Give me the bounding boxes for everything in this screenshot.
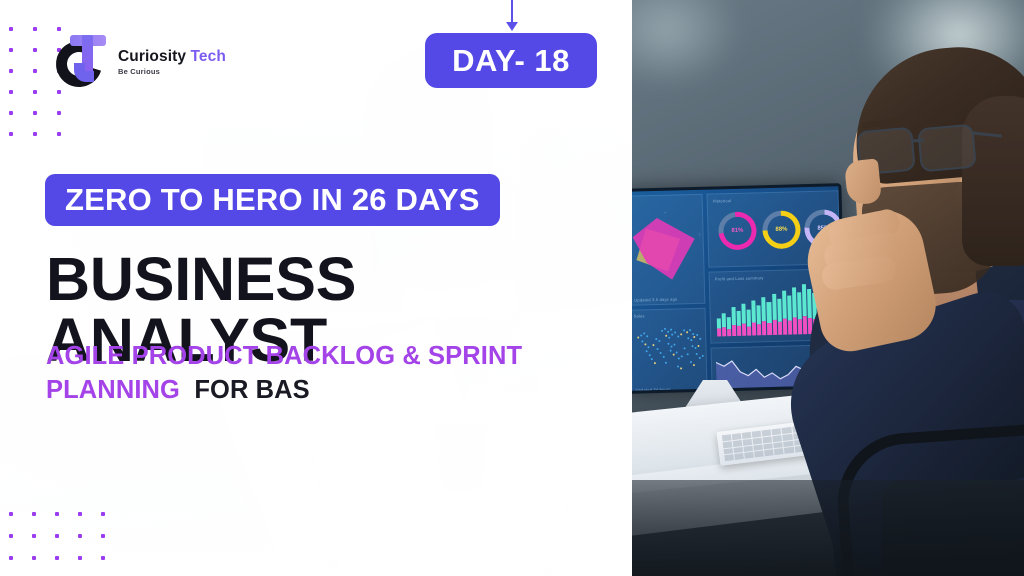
world-map-dot — [671, 334, 673, 336]
bar-segment-bottom — [752, 322, 756, 335]
world-map-dot — [643, 332, 645, 334]
bar-segment-bottom — [737, 326, 741, 336]
decor-dot — [55, 534, 59, 538]
bar-segment-top — [787, 296, 792, 321]
decor-dot — [78, 512, 82, 516]
world-map-dot — [667, 343, 669, 345]
world-map-dot — [673, 354, 675, 356]
map-panel-label: Sales — [634, 313, 645, 318]
decor-dot — [55, 556, 59, 560]
world-map-dot — [680, 367, 682, 369]
kpi-panel-label: Historical — [713, 198, 732, 203]
world-map-dot — [661, 330, 663, 332]
bar-segment-top — [737, 311, 741, 326]
world-map-dot — [677, 335, 679, 337]
world-map-dot — [686, 331, 688, 333]
world-map-dot — [664, 328, 666, 330]
profit-loss-bar — [737, 311, 742, 336]
decor-dot — [57, 27, 61, 31]
decor-dot — [9, 534, 13, 538]
world-map-dot — [668, 337, 670, 339]
decor-dot — [9, 48, 13, 52]
photo-glasses-right-lens — [917, 124, 977, 173]
decor-dot — [9, 27, 13, 31]
bar-segment-top — [792, 287, 797, 317]
bar-segment-top — [772, 294, 777, 320]
world-map-dot — [690, 339, 692, 341]
photo-floor-shadow — [632, 480, 1024, 576]
bar-segment-bottom — [788, 321, 792, 335]
decor-dot — [9, 111, 13, 115]
brand-tagline: Be Curious — [118, 68, 226, 76]
bar-segment-bottom — [777, 322, 781, 335]
decor-dot — [57, 111, 61, 115]
world-map-dot — [674, 332, 676, 334]
profit-loss-bar — [767, 302, 772, 335]
world-map-dot — [677, 365, 679, 367]
decor-dot — [32, 534, 36, 538]
bar-segment-top — [777, 299, 782, 322]
world-map-dot — [660, 352, 662, 354]
world-map-dot — [696, 334, 698, 336]
photo-keyboard-key — [754, 451, 764, 458]
bar-segment-top — [727, 317, 731, 329]
decor-dot — [9, 512, 13, 516]
world-map-dot — [637, 336, 639, 338]
bar-segment-bottom — [772, 320, 776, 335]
world-map-dot — [651, 358, 653, 360]
decor-dot — [9, 132, 13, 136]
bar-segment-top — [732, 307, 737, 325]
decor-dot — [78, 534, 82, 538]
brand-logo[interactable]: Curiosity Tech Be Curious — [56, 33, 226, 91]
bar-segment-bottom — [803, 316, 808, 334]
world-map-dot — [689, 329, 691, 331]
bar-segment-top — [802, 284, 807, 316]
photo-keyboard-key — [784, 447, 794, 454]
profit-loss-bar — [717, 318, 722, 336]
photo-keyboard-key — [764, 449, 774, 456]
decor-dot — [101, 512, 105, 516]
world-map-dot — [646, 335, 648, 337]
world-map-dot — [699, 338, 701, 340]
brand-logo-text: Curiosity Tech Be Curious — [118, 49, 226, 76]
decor-dot — [101, 534, 105, 538]
radar-panel-footer: Updated 3.5 days ago — [634, 296, 677, 302]
profit-loss-bar — [747, 310, 752, 336]
hero-photo: Updated 3.5 days ago Historical 81% 88% … — [632, 0, 1024, 576]
world-map-dot — [670, 346, 672, 348]
day-badge[interactable]: DAY- 18 — [425, 33, 597, 88]
bar-segment-top — [752, 300, 757, 322]
world-map-dot — [640, 334, 642, 336]
profit-loss-bar — [742, 304, 747, 336]
brand-name-part2: Tech — [191, 48, 226, 65]
profit-loss-bar — [732, 307, 737, 336]
world-map-dot — [673, 344, 675, 346]
bar-segment-bottom — [757, 324, 761, 335]
world-map-dot — [678, 357, 680, 359]
photo-person-hair-side — [962, 96, 1024, 266]
bar-segment-top — [757, 305, 762, 324]
photo-keyboard-key — [734, 453, 744, 460]
decor-dot — [33, 48, 37, 52]
decor-dot — [9, 90, 13, 94]
decor-dot — [101, 556, 105, 560]
world-map-dot — [647, 346, 649, 348]
profit-loss-bar — [722, 313, 727, 336]
decor-dot — [33, 27, 37, 31]
world-map-dot — [684, 347, 686, 349]
bar-segment-top — [782, 291, 787, 319]
decor-dot — [33, 90, 37, 94]
bar-segment-bottom — [722, 327, 726, 336]
bar-segment-bottom — [732, 325, 736, 336]
arrow-down-icon — [505, 0, 519, 34]
world-map-dot — [657, 348, 659, 350]
world-map-dot — [646, 350, 648, 352]
decor-dot-grid-bottom-left — [9, 512, 124, 576]
world-map-dot — [683, 329, 685, 331]
world-map-dot — [697, 345, 699, 347]
world-map-dot — [652, 344, 654, 346]
world-map-dot — [670, 329, 672, 331]
profit-loss-bar — [757, 305, 762, 335]
world-map-dot — [702, 355, 704, 357]
world-map-dot — [687, 353, 689, 355]
profit-loss-panel-label: Profit and Loss summary — [715, 275, 764, 281]
bar-segment-top — [747, 310, 751, 327]
bar-segment-top — [742, 304, 747, 324]
map-panel-footer: Updated 24 hours — [636, 387, 671, 391]
world-map-dot — [681, 355, 683, 357]
decor-dot — [32, 512, 36, 516]
brand-name: Curiosity Tech — [118, 49, 226, 65]
world-map-dot — [691, 345, 693, 347]
page-subtitle: AGILE PRODUCT BACKLOG & SPRINT PLANNING … — [46, 340, 606, 407]
world-map-dot — [687, 337, 689, 339]
brand-name-part1: Curiosity — [118, 48, 186, 65]
bar-segment-bottom — [798, 319, 802, 334]
world-map-dot — [693, 364, 695, 366]
world-map-dot — [649, 354, 651, 356]
bar-segment-bottom — [767, 323, 771, 335]
bar-segment-bottom — [742, 324, 746, 336]
world-map-dots — [632, 309, 705, 311]
world-map-dot — [655, 338, 657, 340]
bar-segment-top — [762, 297, 767, 321]
world-map-dot — [644, 343, 646, 345]
world-map-dot — [692, 333, 694, 335]
bar-segment-top — [722, 313, 726, 327]
world-map-dot — [693, 336, 695, 338]
bar-segment-top — [717, 318, 721, 328]
bar-segment-top — [767, 302, 772, 323]
decor-dot — [9, 556, 13, 560]
donut-chart-2: 88% — [755, 203, 809, 257]
world-map-dot — [670, 350, 672, 352]
world-map-dot — [680, 333, 682, 335]
bar-segment-bottom — [717, 328, 721, 336]
dashboard-radar-panel: Updated 3.5 days ago — [632, 194, 705, 306]
world-map-dot — [641, 340, 643, 342]
dashboard-map-panel: Sales Updated 24 hours — [632, 308, 708, 391]
decor-dot — [33, 132, 37, 136]
world-map-dot — [658, 340, 660, 342]
bar-segment-bottom — [782, 319, 786, 335]
decor-dot — [33, 111, 37, 115]
donut-chart-1: 81% — [711, 204, 764, 257]
photo-keyboard-key — [724, 454, 734, 461]
world-map-dot — [696, 353, 698, 355]
profit-loss-bar — [727, 317, 732, 336]
decor-dot — [9, 69, 13, 73]
bar-segment-bottom — [747, 327, 751, 336]
decor-dot — [78, 556, 82, 560]
subtitle-dark-text: FOR BAS — [194, 376, 309, 404]
photo-keyboard-key — [774, 448, 784, 455]
bar-segment-bottom — [762, 321, 766, 335]
left-content-panel: Curiosity Tech Be Curious DAY- 18 ZERO T… — [0, 0, 632, 576]
world-map-dot — [667, 331, 669, 333]
bar-segment-bottom — [792, 317, 796, 334]
poster-canvas: Curiosity Tech Be Curious DAY- 18 ZERO T… — [0, 0, 1024, 576]
world-map-dot — [663, 356, 665, 358]
donut-chart-2-value: 88% — [767, 226, 795, 233]
decor-dot — [57, 132, 61, 136]
world-map-dot — [665, 335, 667, 337]
world-map-dot — [676, 351, 678, 353]
photo-keyboard-key — [744, 452, 754, 459]
world-map-dot — [695, 347, 697, 349]
curiosity-tech-logo-icon — [56, 33, 110, 91]
arrow-head — [506, 22, 518, 31]
donut-chart-1-value: 81% — [723, 228, 751, 235]
decor-dot — [32, 556, 36, 560]
bar-segment-top — [797, 292, 802, 319]
photo-secondary-glow — [632, 0, 742, 90]
world-map-dot — [654, 362, 656, 364]
world-map-dot — [699, 357, 701, 359]
series-badge[interactable]: ZERO TO HERO IN 26 DAYS — [45, 174, 500, 226]
bar-segment-bottom — [727, 329, 731, 336]
world-map-dot — [665, 362, 667, 364]
world-map-dot — [690, 361, 692, 363]
bar-segment-top — [807, 289, 812, 318]
decor-dot — [55, 512, 59, 516]
decor-dot — [33, 69, 37, 73]
